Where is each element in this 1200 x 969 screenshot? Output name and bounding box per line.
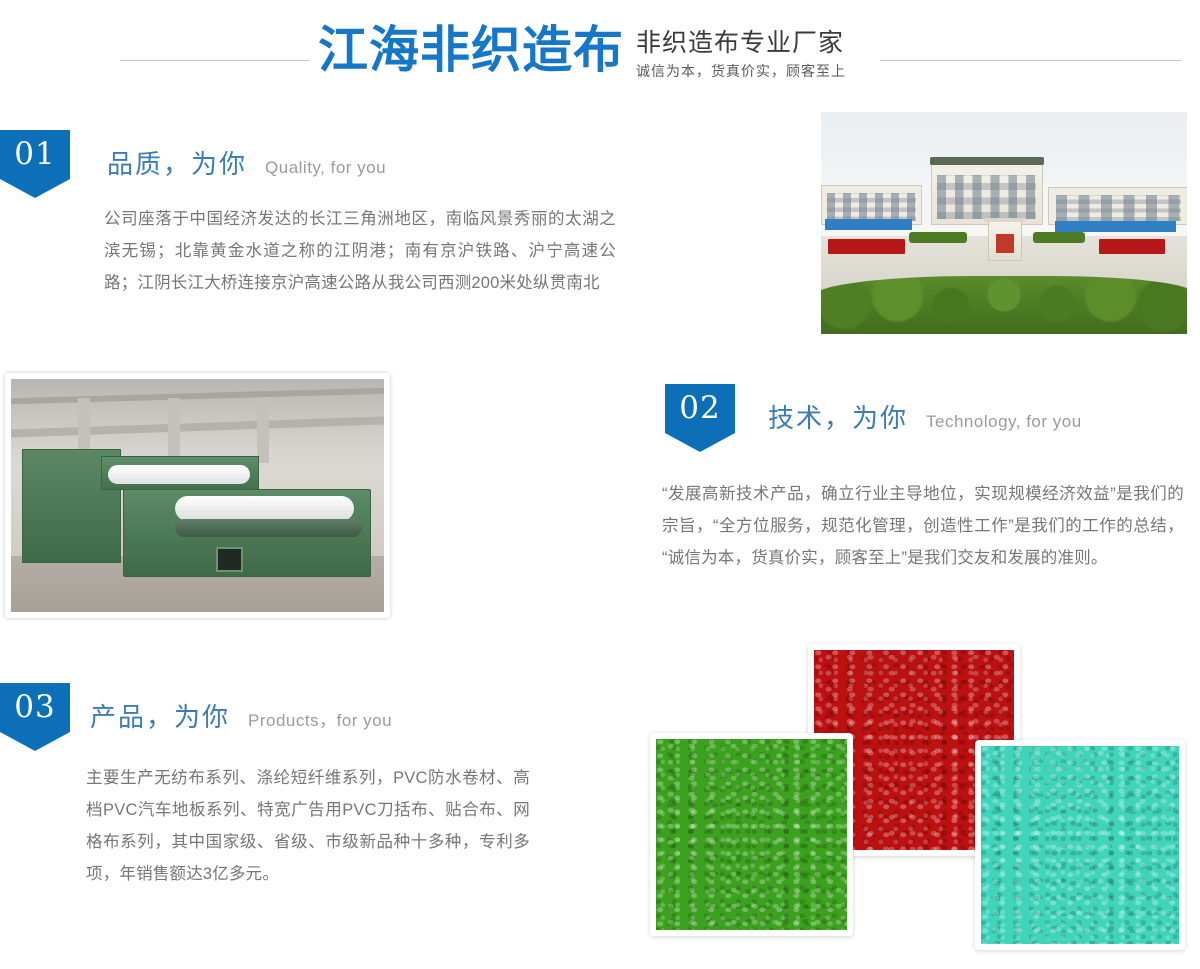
green-pvc-leather-swatch bbox=[650, 733, 853, 936]
hall-column-3 bbox=[257, 398, 269, 463]
factory-canopy-left bbox=[825, 219, 913, 230]
factory-hedge-left bbox=[909, 232, 968, 243]
section-heading-cn-02: 技术，为你 bbox=[768, 402, 908, 434]
header-rule-right bbox=[880, 60, 1182, 61]
section-heading-01: 品质，为你Quality, for you bbox=[107, 148, 386, 184]
section-heading-en-02: Technology, for you bbox=[926, 406, 1082, 438]
machine-photo-canvas bbox=[11, 379, 384, 612]
factory-photo-canvas bbox=[821, 112, 1187, 334]
brand-subtitle-block: 非织造布专业厂家 诚信为本，货真价实，顾客至上 bbox=[636, 28, 866, 80]
section-heading-cn-01: 品质，为你 bbox=[107, 148, 247, 180]
section-heading-02: 技术，为你Technology, for you bbox=[768, 402, 1082, 438]
machine-access-hatch bbox=[216, 547, 242, 572]
cyan-pvc-leather-swatch bbox=[975, 740, 1185, 950]
section-badge-01: 01 bbox=[0, 130, 70, 198]
brand-subtitle: 非织造布专业厂家 bbox=[636, 28, 866, 58]
factory-treeline bbox=[821, 276, 1187, 334]
section-heading-cn-03: 产品，为你 bbox=[90, 701, 230, 733]
section-body-03: 主要生产无纺布系列、涤纶短纤维系列，PVC防水卷材、高档PVC汽车地板系列、特宽… bbox=[86, 762, 530, 890]
factory-gatehouse bbox=[988, 221, 1023, 261]
factory-sign-left bbox=[828, 239, 905, 255]
section-body-02: “发展高新技术产品，确立行业主导地位，实现规模经济效益”是我们的宗旨，“全方位服… bbox=[662, 478, 1184, 574]
section-heading-en-01: Quality, for you bbox=[265, 152, 386, 184]
factory-building-right bbox=[1048, 187, 1187, 225]
nonwoven-production-line-photo bbox=[5, 373, 390, 618]
factory-office-building bbox=[931, 163, 1043, 225]
section-body-01: 公司座落于中国经济发达的长江三角洲地区，南临风景秀丽的太湖之滨无锡；北靠黄金水道… bbox=[104, 203, 616, 299]
fabric-roll-main bbox=[175, 496, 354, 522]
section-badge-02: 02 bbox=[665, 384, 735, 452]
brand-slogan: 诚信为本，货真价实，顾客至上 bbox=[636, 62, 866, 80]
factory-canopy-right bbox=[1055, 221, 1176, 232]
header-rule-left bbox=[120, 60, 310, 61]
section-heading-03: 产品，为你Products，for you bbox=[90, 701, 392, 737]
factory-sign-right bbox=[1099, 239, 1165, 255]
page-header: 江海非织造布 非织造布专业厂家 诚信为本，货真价实，顾客至上 bbox=[0, 0, 1200, 100]
section-badge-03: 03 bbox=[0, 683, 70, 751]
factory-aerial-photo bbox=[821, 112, 1187, 334]
fabric-roll-upper bbox=[108, 465, 250, 484]
section-heading-en-03: Products，for you bbox=[248, 705, 392, 737]
green-swatch-face bbox=[656, 739, 847, 930]
factory-hedge-right bbox=[1033, 232, 1084, 243]
machine-drum bbox=[175, 519, 362, 538]
hall-column-2 bbox=[168, 398, 180, 463]
brand-title: 江海非织造布 bbox=[318, 22, 624, 78]
cyan-swatch-face bbox=[981, 746, 1179, 944]
